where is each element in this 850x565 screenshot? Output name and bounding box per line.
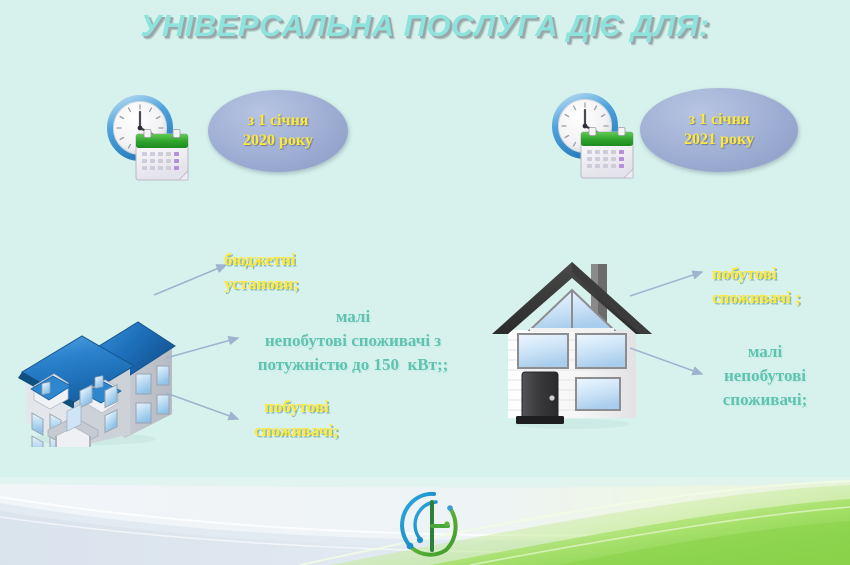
clock-calendar-icon: [545, 86, 641, 182]
clock-calendar-icon: [100, 88, 196, 184]
item-small-nonresidential-right: малі непобутові споживачі;: [690, 340, 840, 412]
item-residential-right: побутові споживачі ;: [712, 262, 801, 310]
date-bubble-2020-line1: з 1 січня: [248, 111, 309, 131]
item-small-nonresidential-left: малі непобутові споживачі з потужністю д…: [228, 305, 478, 377]
slide-canvas: УНІВЕРСАЛЬНА ПОСЛУГА ДІЄ ДЛЯ:: [0, 0, 850, 565]
item-residential-left: побутові споживачі;: [224, 395, 369, 443]
page-title: УНІВЕРСАЛЬНА ПОСЛУГА ДІЄ ДЛЯ:: [0, 8, 850, 44]
date-bubble-2021-line1: з 1 січня: [689, 110, 750, 130]
date-bubble-2020: з 1 січня 2020 року: [208, 90, 348, 172]
date-bubble-2021-line2: 2021 року: [684, 130, 754, 150]
item-budget-institutions: бюджетні установи;: [224, 248, 299, 296]
date-bubble-2020-line2: 2020 року: [243, 131, 313, 151]
arrow-to-residential-right: [626, 262, 712, 306]
date-bubble-2021: з 1 січня 2021 року: [640, 88, 798, 172]
company-logo: [390, 484, 470, 560]
